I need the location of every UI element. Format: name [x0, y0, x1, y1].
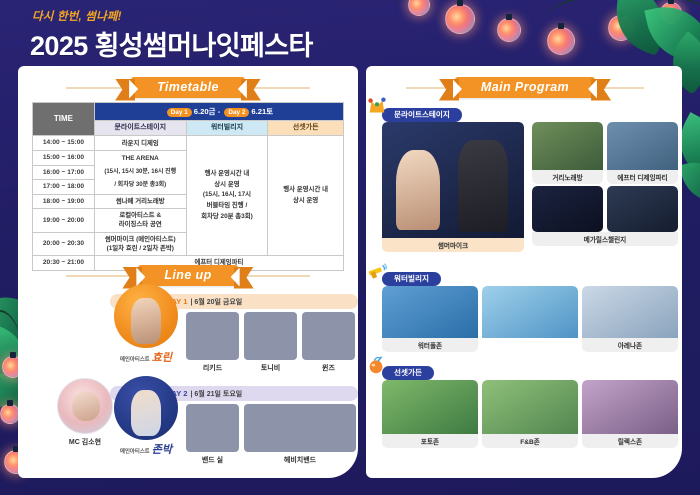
water-gun-icon — [366, 260, 388, 282]
program-caption: 아레나존 — [582, 338, 678, 352]
artist-photo — [244, 312, 297, 360]
artist-name: 윈즈 — [302, 363, 355, 373]
page-title: 2025 횡성썸머나잇페스타 — [30, 24, 313, 63]
program-caption: 포토존 — [382, 434, 478, 448]
col-header-water: 워터빌리지 — [186, 121, 268, 136]
cell-moonlight: THE ARENA — [94, 150, 186, 165]
lineup-ribbon: Line up — [60, 262, 316, 288]
artist-photo — [244, 404, 356, 452]
cell-moonlight: (15시, 15시 30분, 16시 진행 — [94, 165, 186, 180]
artist-photo — [114, 284, 178, 348]
cell-sunset: 행사 운영시간 내 상시 운영 — [268, 136, 344, 256]
jester-hat-icon — [366, 96, 388, 118]
program-photo — [532, 122, 603, 170]
ribbon-body: Timetable — [131, 77, 245, 98]
day1-date: | 6월 20일 금요일 — [191, 297, 243, 307]
festival-poster: 다시 한번, 썸나페! 2025 횡성썸머나잇페스타 Timetable TIM… — [0, 0, 700, 495]
lineup-section: MC 김소현 DAY 1 | 6월 20일 금요일 메인아티스트효린 리키드 토… — [18, 288, 358, 478]
zone-tag: 선셋가든 — [382, 366, 434, 380]
program-card[interactable] — [482, 286, 578, 349]
row-time: 17:00 ~ 18:00 — [33, 180, 95, 195]
row-time: 15:00 ~ 16:00 — [33, 150, 95, 165]
zone-tag-label: 워터빌리지 — [394, 273, 429, 284]
lineup-ribbon-label: Line up — [164, 268, 211, 282]
program-card[interactable]: 에프터 디제잉파티 — [607, 122, 678, 184]
program-card[interactable]: 릴렉스존 — [582, 380, 678, 448]
program-card[interactable]: 아레나존 — [582, 286, 678, 352]
table-row: 14:00 ~ 15:00 라운지 디제잉 행사 운영시간 내 상시 운영 (1… — [33, 136, 344, 151]
program-photo — [607, 186, 678, 232]
program-card[interactable]: 포토존 — [382, 380, 478, 448]
program-caption-empty — [482, 338, 578, 349]
day2-main-artist[interactable]: 메인아티스트존박 — [110, 376, 182, 458]
zone-tag: 워터빌리지 — [382, 272, 441, 286]
day1-main-role: 메인아티스트 — [120, 355, 150, 363]
cell-moonlight: 라운지 디제잉 — [94, 136, 186, 151]
day1-badge: Day 1 — [167, 108, 192, 117]
list-item[interactable]: 리키드 — [186, 312, 239, 373]
cell-moonlight: / 회차당 30분 총3회) — [94, 180, 186, 195]
cell-moonlight: 썸머마이크 (메인아티스트) (1일차 효린 / 2일차 존박) — [94, 232, 186, 256]
day1-artist-thumbs: 리키드 토니비 윈즈 — [186, 312, 355, 373]
artist-photo — [114, 376, 178, 440]
timetable: TIME Day 16.20금 - Day 26.21토 문라이트스테이지 워터… — [32, 102, 344, 271]
zone-water-village: 워터빌리지 — [382, 268, 441, 286]
row-time: 18:00 ~ 19:00 — [33, 194, 95, 209]
artist-name: 헤비치밴드 — [244, 455, 356, 465]
mainprogram-ribbon-label: Main Program — [481, 80, 569, 94]
program-caption: 릴렉스존 — [582, 434, 678, 448]
program-caption: 거리노래방 — [532, 170, 603, 184]
col-header-sunset: 선셋가든 — [268, 121, 344, 136]
program-card-hero[interactable]: 썸머마이크 — [382, 122, 524, 252]
program-card[interactable]: 워터풀존 — [382, 286, 478, 352]
program-card-wide[interactable]: 메가릴스챌린지 — [532, 186, 678, 246]
program-photo — [582, 380, 678, 434]
row-time: 14:00 ~ 15:00 — [33, 136, 95, 151]
row-time: 16:00 ~ 17:00 — [33, 165, 95, 180]
program-photo — [382, 122, 524, 238]
program-caption: F&B존 — [482, 434, 578, 448]
program-photo — [482, 286, 578, 338]
artist-photo — [302, 312, 355, 360]
program-card[interactable]: F&B존 — [482, 380, 578, 448]
artist-name: 리키드 — [186, 363, 239, 373]
cell-moonlight: 썸나페 거리노래방 — [94, 194, 186, 209]
timetable-ribbon-label: Timetable — [157, 80, 219, 94]
day2-date: 6.21토 — [251, 107, 273, 116]
program-photo — [582, 286, 678, 338]
mc-block: MC 김소현 — [54, 378, 116, 447]
day2-main-name: 존박 — [152, 444, 172, 456]
program-photo — [382, 286, 478, 338]
mc-name: MC 김소현 — [54, 437, 116, 447]
zone-moonlight-stage: 문라이트스테이지 — [382, 104, 462, 122]
list-item[interactable]: 밴드 실 — [186, 404, 239, 465]
cell-moonlight: 로컬아티스트 & 라이징스타 공연 — [94, 209, 186, 233]
program-photo — [382, 380, 478, 434]
ribbon-body: Main Program — [455, 77, 595, 98]
day1-date: 6.20금 — [194, 107, 216, 116]
row-time: 19:00 ~ 20:00 — [33, 209, 95, 233]
timetable-ribbon: Timetable — [60, 74, 316, 100]
day1-main-name: 효린 — [152, 352, 172, 364]
program-caption: 썸머마이크 — [382, 238, 524, 252]
poster-header: 다시 한번, 썸나페! 2025 횡성썸머나잇페스타 — [0, 0, 700, 72]
cell-water: 행사 운영시간 내 상시 운영 (15시, 16시, 17시 버블타임 진행 /… — [186, 136, 268, 256]
artist-name: 밴드 실 — [186, 455, 239, 465]
timetable-time-header: TIME — [33, 103, 95, 136]
row-time: 20:00 ~ 20:30 — [33, 232, 95, 256]
mainprogram-ribbon: Main Program — [400, 74, 650, 100]
artist-name: 토니비 — [244, 363, 297, 373]
program-caption: 메가릴스챌린지 — [532, 232, 678, 246]
list-item[interactable]: 윈즈 — [302, 312, 355, 373]
tropical-leaf — [679, 156, 700, 208]
day1-main-artist[interactable]: 메인아티스트효린 — [110, 284, 182, 366]
list-item[interactable]: 헤비치밴드 — [244, 404, 356, 465]
col-header-moonlight: 문라이트스테이지 — [94, 121, 186, 136]
zone-tag: 문라이트스테이지 — [382, 108, 462, 122]
date-dash: - — [218, 107, 221, 116]
light-bulb-icon — [0, 404, 20, 424]
timetable-day-header-row: TIME Day 16.20금 - Day 26.21토 — [33, 103, 344, 121]
program-photo — [532, 186, 603, 232]
day2-artist-thumbs: 밴드 실 헤비치밴드 — [186, 404, 356, 465]
zone-tag-label: 선셋가든 — [394, 367, 422, 378]
list-item[interactable]: 토니비 — [244, 312, 297, 373]
timetable-date-header: Day 16.20금 - Day 26.21토 — [94, 103, 343, 121]
program-photo — [607, 122, 678, 170]
zone-sunset-garden: 선셋가든 — [382, 362, 434, 380]
program-photo-pair — [532, 186, 678, 232]
ribbon-body: Line up — [138, 265, 237, 286]
header-kicker: 다시 한번, 썸나페! — [32, 8, 122, 24]
program-photo — [482, 380, 578, 434]
day2-main-role: 메인아티스트 — [120, 447, 150, 455]
cocktail-icon — [366, 354, 388, 376]
program-caption: 워터풀존 — [382, 338, 478, 352]
day2-badge: Day 2 — [224, 108, 249, 117]
artist-photo — [186, 404, 239, 452]
program-card[interactable]: 거리노래방 — [532, 122, 603, 184]
zone-tag-label: 문라이트스테이지 — [394, 109, 450, 120]
artist-photo — [186, 312, 239, 360]
avatar — [57, 378, 113, 434]
program-caption: 에프터 디제잉파티 — [607, 170, 678, 184]
day2-date: | 6월 21일 토요일 — [191, 389, 243, 399]
